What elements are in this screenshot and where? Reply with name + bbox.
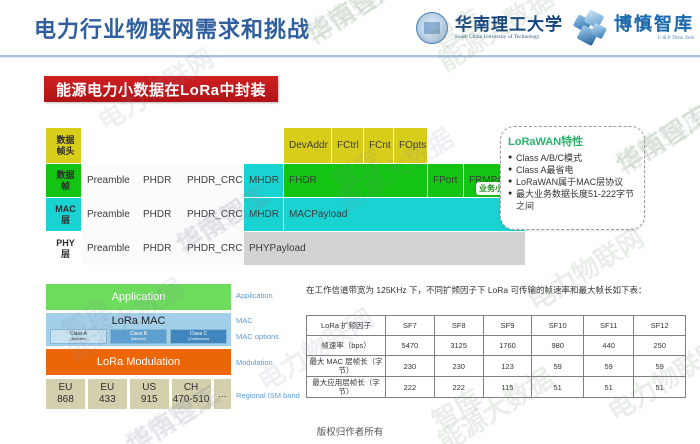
mac-option-class-c: Class C(Continuous) bbox=[170, 329, 227, 344]
frame-cell-macpayload: MACPayload bbox=[284, 198, 526, 232]
thinktank-name-en: U & P Think Tank bbox=[614, 36, 694, 41]
table-cell: 980 bbox=[532, 336, 584, 356]
table-header-cell: SF11 bbox=[584, 316, 634, 336]
frame-cell-fctrl: FCtrl bbox=[332, 128, 364, 164]
table-row: 帧速率（bps）547031251760980440250 bbox=[307, 336, 686, 356]
callout-item: Class A/B/C模式 bbox=[508, 152, 637, 164]
frame-cell-empty bbox=[428, 128, 496, 164]
university-seal-icon bbox=[416, 12, 448, 44]
table-header-cell: SF7 bbox=[386, 316, 435, 336]
lorawan-features-callout: LoRaWAN特性 Class A/B/C模式Class A最省电LoRaWAN… bbox=[500, 126, 645, 230]
table-cell: 1760 bbox=[483, 336, 532, 356]
frame-cell-empty bbox=[138, 128, 182, 164]
frame-cell-empty bbox=[82, 128, 138, 164]
table-row: 最大应用层帧长（字节）222222115515151 bbox=[307, 377, 686, 398]
slide-header: 电力行业物联网需求和挑战 华南理工大学 South China Universi… bbox=[0, 0, 700, 56]
layer-application: Application bbox=[46, 284, 231, 310]
table-cell: 59 bbox=[584, 356, 634, 377]
frame-row: PHY层PreamblePHDRPHDR_CRCPHYPayload bbox=[46, 232, 496, 266]
frame-row-label: 数据帧 bbox=[46, 164, 82, 198]
frame-row: 数据帧头DevAddrFCtrlFCntFOpts bbox=[46, 128, 496, 164]
callout-item: 最大业务数据长度51-222字节之间 bbox=[508, 188, 637, 212]
table-row: 最大 MAC 层帧长（字节）230230123595959 bbox=[307, 356, 686, 377]
page-title: 电力行业物联网需求和挑战 bbox=[34, 12, 310, 44]
frame-row-label: MAC层 bbox=[46, 198, 82, 232]
table-header-row: LoRa 扩频因子SF7SF8SF9SF10SF11SF12 bbox=[307, 316, 686, 336]
callout-title: LoRaWAN特性 bbox=[508, 133, 637, 149]
band-frequency: 868 bbox=[57, 394, 74, 406]
mac-option-class-a: Class A(Baseline) bbox=[50, 329, 107, 344]
thinktank-logo: 博慎智库 U & P Think Tank bbox=[614, 15, 694, 41]
frame-cell-fport: FPort bbox=[428, 164, 464, 198]
university-name-cn: 华南理工大学 bbox=[455, 16, 563, 33]
frame-cell-phdr-crc: PHDR_CRC bbox=[182, 164, 244, 198]
mac-option-name: Class A bbox=[70, 332, 87, 337]
cube-logo-icon bbox=[573, 11, 607, 45]
table-row-label: 最大 MAC 层帧长（字节） bbox=[307, 356, 386, 377]
table-cell: 5470 bbox=[386, 336, 435, 356]
band-region: … bbox=[218, 388, 227, 400]
logo-group: 华南理工大学 South China University of Technol… bbox=[416, 6, 694, 50]
frame-cell-phypayload: PHYPayload bbox=[244, 232, 526, 266]
table-header-cell: SF8 bbox=[434, 316, 483, 336]
band-region: CH bbox=[184, 382, 198, 394]
lorawan-layer-stack: Application LoRa MAC Class A(Baseline)Cl… bbox=[46, 284, 231, 409]
frame-cell-preamble: Preamble bbox=[82, 198, 138, 232]
frame-row-label: 数据帧头 bbox=[46, 128, 82, 164]
frame-cell-fhdr: FHDR bbox=[284, 164, 428, 198]
band-frequency: 433 bbox=[99, 394, 116, 406]
table-cell: 51 bbox=[532, 377, 584, 398]
frame-cell-empty bbox=[244, 128, 284, 164]
frame-cell-preamble: Preamble bbox=[82, 232, 138, 266]
university-logo: 华南理工大学 South China University of Technol… bbox=[455, 16, 563, 40]
frame-cell-devaddr: DevAddr bbox=[284, 128, 332, 164]
university-name-en: South China University of Technology bbox=[455, 35, 563, 40]
copyright-footer: 版权归作者所有 bbox=[0, 424, 700, 438]
ism-band-433: EU433 bbox=[88, 379, 127, 409]
ism-band-915: US915 bbox=[130, 379, 169, 409]
table-row-label: 帧速率（bps） bbox=[307, 336, 386, 356]
frame-row-label: PHY层 bbox=[46, 232, 82, 266]
spreading-factor-description: 在工作信道带宽为 125KHz 下，不同扩频因子下 LoRa 可传输的帧速率和最… bbox=[306, 284, 684, 297]
frame-cell-empty bbox=[182, 128, 244, 164]
regional-ism-bands: EU868EU433US915CH470-510… bbox=[46, 379, 231, 409]
frame-cell-phdr-crc: PHDR_CRC bbox=[182, 198, 244, 232]
side-label-application: Application bbox=[236, 291, 273, 300]
table-cell: 51 bbox=[634, 377, 686, 398]
frame-cell-phdr: PHDR bbox=[138, 232, 182, 266]
table-header-cell: LoRa 扩频因子 bbox=[307, 316, 386, 336]
side-label-mac: MAC bbox=[236, 316, 253, 325]
mac-option-class-b: Class B(Beacon) bbox=[110, 329, 167, 344]
mac-option-name: Class B bbox=[130, 332, 147, 337]
band-region: EU bbox=[58, 382, 72, 394]
ism-band-470-510: CH470-510 bbox=[172, 379, 211, 409]
table-cell: 250 bbox=[634, 336, 686, 356]
layer-lora-modulation: LoRa Modulation bbox=[46, 349, 231, 375]
band-region: US bbox=[142, 382, 156, 394]
table-cell: 59 bbox=[532, 356, 584, 377]
mac-option-sub: (Baseline) bbox=[70, 338, 86, 342]
ism-band-more: … bbox=[214, 379, 232, 409]
mac-option-sub: (Continuous) bbox=[188, 338, 209, 342]
frame-row: MAC层PreamblePHDRPHDR_CRCMHDRMACPayload bbox=[46, 198, 496, 232]
layer-lora-mac: LoRa MAC bbox=[46, 313, 231, 329]
side-label-mac-options: MAC options bbox=[236, 332, 279, 341]
layer-mac-options: Class A(Baseline)Class B(Beacon)Class C(… bbox=[46, 329, 231, 346]
table-cell: 115 bbox=[483, 377, 532, 398]
mac-option-sub: (Beacon) bbox=[131, 338, 146, 342]
lora-frame-structure-diagram: 数据帧头DevAddrFCtrlFCntFOpts数据帧PreamblePHDR… bbox=[46, 128, 496, 266]
table-header-cell: SF10 bbox=[532, 316, 584, 336]
frame-cell-fcnt: FCnt bbox=[364, 128, 394, 164]
section-title-banner: 能源电力小数据在LoRa中封装 bbox=[44, 76, 278, 102]
frame-row: 数据帧PreamblePHDRPHDR_CRCMHDRFHDRFPortFRMP… bbox=[46, 164, 496, 198]
table-cell: 230 bbox=[434, 356, 483, 377]
frame-cell-fopts: FOpts bbox=[394, 128, 428, 164]
watermark-text: 电力物联网 bbox=[520, 218, 650, 318]
table-cell: 3125 bbox=[434, 336, 483, 356]
callout-list: Class A/B/C模式Class A最省电LoRaWAN属于MAC层协议最大… bbox=[508, 152, 637, 212]
table-row-label: 最大应用层帧长（字节） bbox=[307, 377, 386, 398]
band-region: EU bbox=[100, 382, 114, 394]
table-cell: 222 bbox=[386, 377, 435, 398]
side-label-modulation: Modulation bbox=[236, 358, 273, 367]
spreading-factor-table: LoRa 扩频因子SF7SF8SF9SF10SF11SF12帧速率（bps）54… bbox=[306, 315, 686, 398]
table-cell: 222 bbox=[434, 377, 483, 398]
band-frequency: 470-510 bbox=[173, 394, 210, 406]
table-header-cell: SF12 bbox=[634, 316, 686, 336]
thinktank-name-cn: 博慎智库 bbox=[614, 15, 694, 33]
frame-cell-phdr-crc: PHDR_CRC bbox=[182, 232, 244, 266]
table-cell: 230 bbox=[386, 356, 435, 377]
callout-item: Class A最省电 bbox=[508, 164, 637, 176]
table-cell: 440 bbox=[584, 336, 634, 356]
table-cell: 51 bbox=[584, 377, 634, 398]
table-cell: 59 bbox=[634, 356, 686, 377]
frame-cell-mhdr: MHDR bbox=[244, 164, 284, 198]
ism-band-868: EU868 bbox=[46, 379, 85, 409]
table-header-cell: SF9 bbox=[483, 316, 532, 336]
header-divider-light bbox=[0, 57, 700, 58]
frame-cell-phdr: PHDR bbox=[138, 198, 182, 232]
side-label-regional-ism-band: Regional ISM band bbox=[236, 391, 300, 400]
band-frequency: 915 bbox=[141, 394, 158, 406]
callout-item: LoRaWAN属于MAC层协议 bbox=[508, 176, 637, 188]
frame-cell-preamble: Preamble bbox=[82, 164, 138, 198]
table-cell: 123 bbox=[483, 356, 532, 377]
mac-option-name: Class C bbox=[190, 332, 208, 337]
frame-cell-mhdr: MHDR bbox=[244, 198, 284, 232]
frame-cell-phdr: PHDR bbox=[138, 164, 182, 198]
